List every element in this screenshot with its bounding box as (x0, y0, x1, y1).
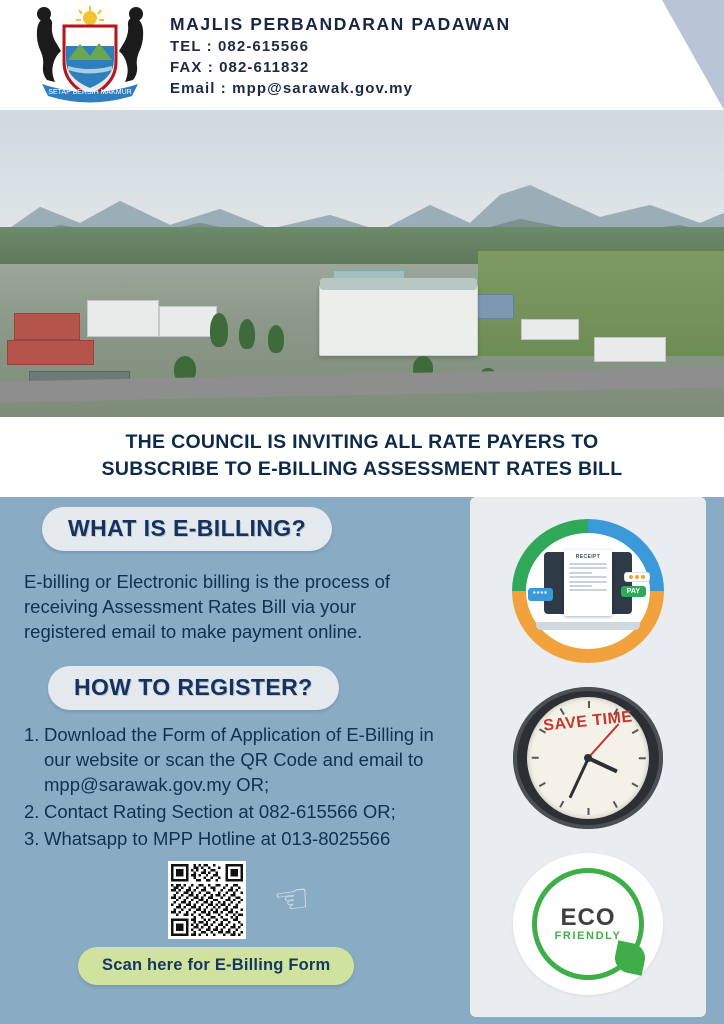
photo-building (87, 300, 159, 337)
receipt-line (569, 585, 592, 587)
list-item-text: Contact Rating Section at 082-615566 OR; (44, 799, 442, 824)
scan-here-button-label: Scan here for E-Billing Form (102, 956, 330, 974)
how-to-register-title: HOW TO REGISTER? (74, 674, 313, 700)
list-item-text: Download the Form of Application of E-Bi… (44, 722, 442, 797)
photo-tree (239, 319, 255, 349)
how-to-register-heading: HOW TO REGISTER? (48, 666, 339, 710)
photo-tree (268, 325, 284, 353)
headline-line-2: SUBSCRIBE TO E-BILLING ASSESSMENT RATES … (26, 456, 698, 483)
svg-text:SETAP BERSIH MAKMUR: SETAP BERSIH MAKMUR (48, 89, 131, 96)
receipt-line (569, 576, 607, 578)
list-item-number: 2. (24, 799, 44, 824)
eco-ring: ECO FRIENDLY (532, 868, 644, 980)
receipt-line (569, 589, 607, 591)
save-time-clock-icon: SAVE TIME (513, 687, 663, 829)
leaf-icon (612, 940, 648, 976)
photo-building (159, 306, 217, 337)
list-item-number: 1. (24, 722, 44, 747)
body-area: WHAT IS E-BILLING? E-billing or Electron… (0, 497, 724, 1002)
receipt-title: RECEIPT (569, 554, 607, 560)
council-building-roof (320, 278, 477, 290)
clock-center-pin (584, 754, 592, 762)
email-line: Email : mpp@sarawak.gov.my (170, 78, 511, 99)
icon-panel: RECEIPT PAY **** (470, 497, 706, 1017)
headline-line-1: THE COUNCIL IS INVITING ALL RATE PAYERS … (26, 429, 698, 456)
dots-badge (624, 572, 650, 582)
what-is-ebilling-heading: WHAT IS E-BILLING? (42, 507, 332, 551)
list-item-text: Whatsapp to MPP Hotline at 013-8025566 (44, 826, 442, 851)
eco-label-bottom: FRIENDLY (555, 930, 622, 942)
what-is-ebilling-title: WHAT IS E-BILLING? (68, 515, 306, 541)
qr-code-icon[interactable] (168, 861, 246, 939)
receipt-line (569, 563, 607, 565)
list-item: 2. Contact Rating Section at 082-615566 … (24, 799, 442, 824)
poster: SETAP BERSIH MAKMUR MAJLIS PERBANDARAN P… (0, 0, 724, 1024)
receipt-graphic: RECEIPT (564, 550, 612, 616)
list-item-number: 3. (24, 826, 44, 851)
council-crest-icon: SETAP BERSIH MAKMUR (24, 4, 156, 106)
laptop-base (536, 622, 640, 630)
fax-line: FAX : 082-611832 (170, 57, 511, 78)
photo-tree (210, 313, 228, 347)
what-is-ebilling-body: E-billing or Electronic billing is the p… (24, 569, 436, 644)
headline-banner: THE COUNCIL IS INVITING ALL RATE PAYERS … (0, 417, 724, 497)
list-item: 3. Whatsapp to MPP Hotline at 013-802556… (24, 826, 442, 851)
how-to-register-steps: 1. Download the Form of Application of E… (24, 722, 442, 851)
receipt-line (569, 567, 607, 569)
photo-building (594, 337, 666, 362)
telephone-line: TEL : 082-615566 (170, 36, 511, 57)
qr-row: ☜ (168, 861, 442, 939)
eco-label-top: ECO (560, 906, 615, 930)
header: SETAP BERSIH MAKMUR MAJLIS PERBANDARAN P… (0, 0, 724, 110)
pay-badge: PAY (621, 586, 646, 597)
laptop-screen: RECEIPT (544, 552, 632, 614)
header-text-block: MAJLIS PERBANDARAN PADAWAN TEL : 082-615… (170, 12, 511, 99)
header-corner-decoration (662, 0, 724, 110)
e-billing-laptop-icon: RECEIPT PAY **** (512, 519, 664, 663)
council-building (319, 285, 478, 356)
aerial-photo (0, 110, 724, 417)
organisation-name: MAJLIS PERBANDARAN PADAWAN (170, 12, 511, 36)
list-item: 1. Download the Form of Application of E… (24, 722, 442, 797)
receipt-line (569, 572, 592, 574)
laptop-graphic: RECEIPT PAY **** (536, 552, 640, 630)
body-left-column: WHAT IS E-BILLING? E-billing or Electron… (0, 507, 460, 985)
eco-friendly-icon: ECO FRIENDLY (513, 853, 663, 995)
scan-here-button[interactable]: Scan here for E-Billing Form (78, 947, 354, 985)
clock-face: SAVE TIME (527, 697, 649, 819)
photo-building (7, 340, 94, 365)
receipt-line (569, 581, 607, 583)
photo-building (14, 313, 79, 341)
card-badge: **** (528, 588, 553, 601)
pointing-hand-icon: ☜ (271, 878, 312, 923)
photo-building (521, 319, 579, 340)
